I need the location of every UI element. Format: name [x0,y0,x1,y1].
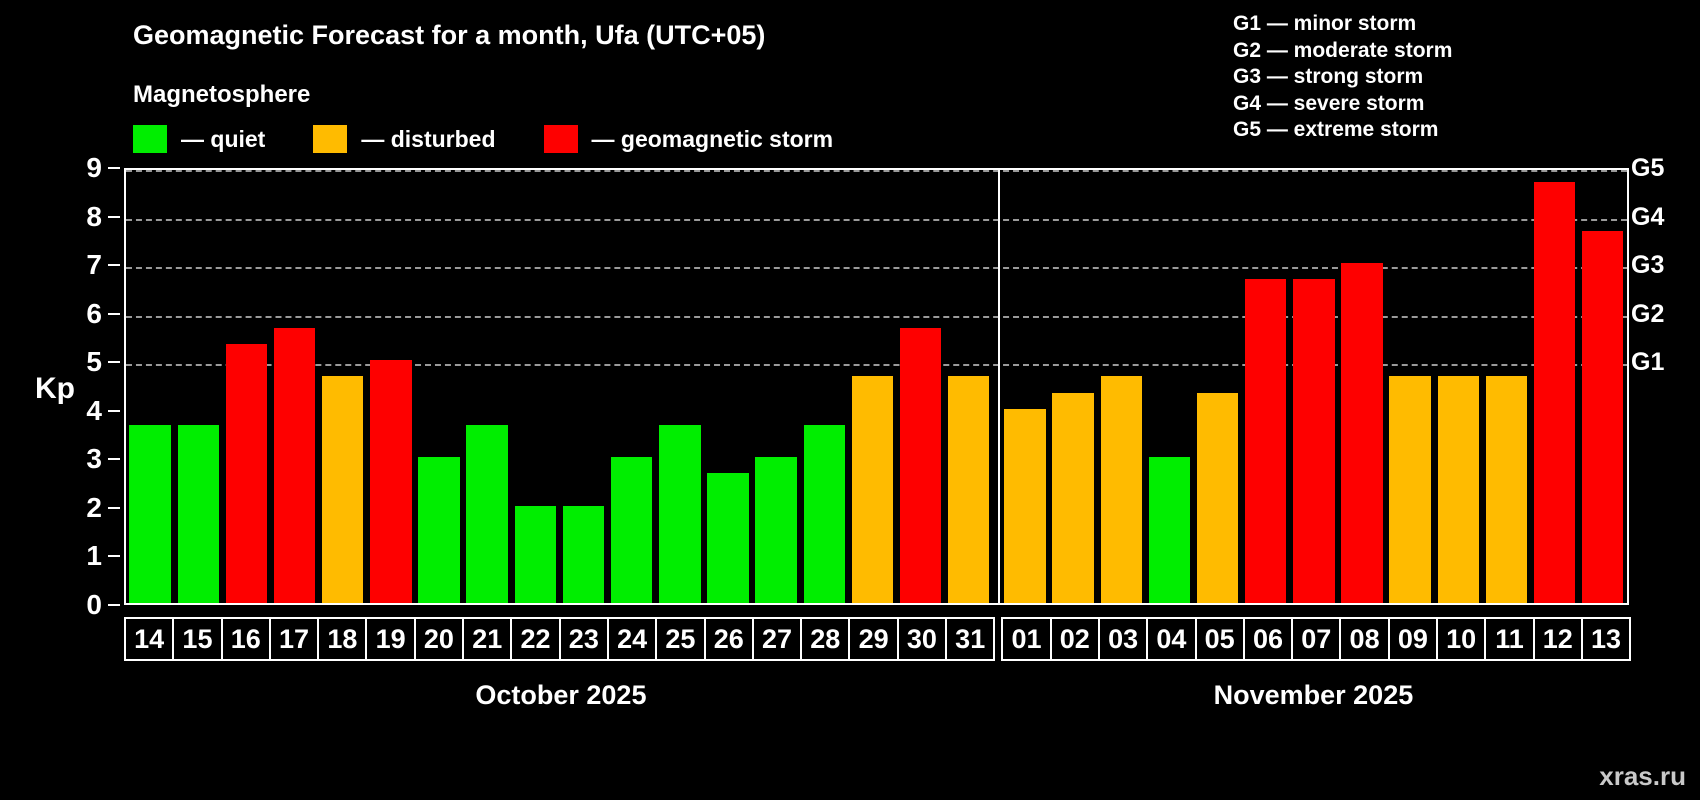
y-tick-mark-2 [108,507,120,509]
bar-16[interactable] [226,344,267,603]
date-cell-11[interactable]: 11 [1484,617,1534,661]
y-tick-mark-6 [108,313,120,315]
y-tick-label-2: 2 [86,494,102,522]
g-scale-line-3: G3 — strong storm [1233,64,1452,91]
date-cell-17[interactable]: 17 [269,617,319,661]
date-cell-16[interactable]: 16 [221,617,271,661]
bar-slot-10[interactable] [1434,170,1482,603]
bar-slot-03[interactable] [1097,170,1145,603]
y-tick-8: 8 [0,201,124,233]
bar-21[interactable] [466,425,507,603]
date-cell-14[interactable]: 14 [124,617,174,661]
bar-slot-02[interactable] [1049,170,1097,603]
legend-label-disturbed: — disturbed [361,126,495,153]
bar-12[interactable] [1534,182,1575,603]
month-label-0: October 2025 [124,680,998,711]
g-scale-line-2: G2 — moderate storm [1233,38,1452,65]
bar-slot-21[interactable] [463,170,511,603]
bar-28[interactable] [804,425,845,603]
bar-05[interactable] [1197,393,1238,603]
bar-slot-11[interactable] [1482,170,1530,603]
y-tick-mark-0 [108,604,120,606]
bar-slot-22[interactable] [511,170,559,603]
y-tick-1: 1 [0,540,124,572]
date-cell-04[interactable]: 04 [1146,617,1196,661]
plot-area [124,168,1629,605]
bar-slot-20[interactable] [415,170,463,603]
bar-01[interactable] [1004,409,1045,603]
y-tick-mark-3 [108,458,120,460]
bar-03[interactable] [1101,376,1142,603]
date-cell-12[interactable]: 12 [1533,617,1583,661]
date-cell-23[interactable]: 23 [559,617,609,661]
bar-26[interactable] [707,473,748,603]
date-cell-20[interactable]: 20 [414,617,464,661]
date-cell-26[interactable]: 26 [704,617,754,661]
legend-item-quiet: — quiet [133,125,265,153]
bar-slot-29[interactable] [848,170,896,603]
g-tick-G3: G3 [1631,253,1664,278]
date-cell-22[interactable]: 22 [510,617,560,661]
date-cell-29[interactable]: 29 [848,617,898,661]
watermark: xras.ru [1599,761,1686,792]
bar-06[interactable] [1245,279,1286,603]
y-tick-label-4: 4 [86,397,102,425]
y-tick-label-7: 7 [86,251,102,279]
bar-slot-17[interactable] [270,170,318,603]
bar-slot-04[interactable] [1145,170,1193,603]
bar-20[interactable] [418,457,459,603]
legend-heading: Magnetosphere [133,81,310,109]
y-axis-g-scale: G5G4G3G2G1 [1631,168,1700,605]
legend-swatch-quiet-icon [133,125,167,153]
bar-slot-14[interactable] [126,170,174,603]
bar-slot-05[interactable] [1193,170,1241,603]
bar-30[interactable] [900,328,941,603]
g-scale-legend: G1 — minor stormG2 — moderate stormG3 — … [1233,11,1452,144]
bar-15[interactable] [178,425,219,603]
page-title: Geomagnetic Forecast for a month, Ufa (U… [133,20,765,51]
y-tick-label-3: 3 [86,445,102,473]
bar-slot-08[interactable] [1338,170,1386,603]
date-cell-10[interactable]: 10 [1436,617,1486,661]
y-tick-mark-5 [108,361,120,363]
bar-slot-25[interactable] [656,170,704,603]
date-cell-06[interactable]: 06 [1243,617,1293,661]
date-axis: 1415161718192021222324252627282930310102… [124,617,1629,661]
date-cell-30[interactable]: 30 [897,617,947,661]
geomagnetic-forecast-chart: Geomagnetic Forecast for a month, Ufa (U… [0,0,1700,800]
bar-slot-31[interactable] [945,170,993,603]
y-tick-label-6: 6 [86,300,102,328]
y-axis-title: Kp [35,372,75,406]
date-cell-27[interactable]: 27 [752,617,802,661]
date-cell-24[interactable]: 24 [607,617,657,661]
bar-04[interactable] [1149,457,1190,603]
bar-slot-30[interactable] [897,170,945,603]
y-tick-6: 6 [0,298,124,330]
g-scale-line-4: G4 — severe storm [1233,91,1452,118]
legend: — quiet— disturbed— geomagnetic storm [133,125,833,153]
bar-25[interactable] [659,425,700,603]
bar-slot-13[interactable] [1579,170,1627,603]
y-tick-mark-9 [108,167,120,169]
y-tick-mark-4 [108,410,120,412]
y-tick-9: 9 [0,152,124,184]
legend-item-disturbed: — disturbed [313,125,495,153]
date-cell-15[interactable]: 15 [172,617,222,661]
bar-slot-19[interactable] [367,170,415,603]
g-tick-G5: G5 [1631,156,1664,181]
bar-31[interactable] [948,376,989,603]
bar-slot-27[interactable] [752,170,800,603]
date-cell-02[interactable]: 02 [1050,617,1100,661]
legend-swatch-storm-icon [544,125,578,153]
bar-13[interactable] [1582,231,1623,603]
date-cell-18[interactable]: 18 [317,617,367,661]
y-tick-mark-8 [108,216,120,218]
legend-label-quiet: — quiet [181,126,265,153]
bar-slot-06[interactable] [1242,170,1290,603]
y-tick-0: 0 [0,589,124,621]
y-tick-7: 7 [0,249,124,281]
g-tick-G2: G2 [1631,302,1664,327]
bar-slot-01[interactable] [1001,170,1049,603]
y-tick-label-8: 8 [86,203,102,231]
y-tick-label-0: 0 [86,591,102,619]
bar-24[interactable] [611,457,652,603]
bar-slot-18[interactable] [319,170,367,603]
y-tick-label-1: 1 [86,542,102,570]
g-tick-G4: G4 [1631,205,1664,230]
bar-10[interactable] [1438,376,1479,603]
bar-slot-28[interactable] [800,170,848,603]
bar-18[interactable] [322,376,363,603]
date-cell-21[interactable]: 21 [462,617,512,661]
g-tick-G1: G1 [1631,350,1664,375]
date-cell-05[interactable]: 05 [1195,617,1245,661]
y-tick-label-5: 5 [86,348,102,376]
bar-slot-12[interactable] [1531,170,1579,603]
bar-11[interactable] [1486,376,1527,603]
bar-09[interactable] [1389,376,1430,603]
y-tick-mark-1 [108,555,120,557]
bar-slot-23[interactable] [559,170,607,603]
bar-slot-15[interactable] [174,170,222,603]
bar-27[interactable] [755,457,796,603]
legend-item-storm: — geomagnetic storm [544,125,834,153]
g-scale-line-5: G5 — extreme storm [1233,117,1452,144]
bar-29[interactable] [852,376,893,603]
date-cell-31[interactable]: 31 [945,617,995,661]
y-tick-3: 3 [0,443,124,475]
bar-slot-09[interactable] [1386,170,1434,603]
bar-14[interactable] [129,425,170,603]
bar-02[interactable] [1052,393,1093,603]
bar-17[interactable] [274,328,315,603]
date-cell-01[interactable]: 01 [1001,617,1051,661]
bar-07[interactable] [1293,279,1334,603]
bar-slot-16[interactable] [222,170,270,603]
bar-22[interactable] [515,506,556,603]
bar-slot-07[interactable] [1290,170,1338,603]
bar-08[interactable] [1341,263,1382,603]
date-cell-28[interactable]: 28 [800,617,850,661]
legend-swatch-disturbed-icon [313,125,347,153]
bar-23[interactable] [563,506,604,603]
date-cell-09[interactable]: 09 [1388,617,1438,661]
bar-slot-26[interactable] [704,170,752,603]
bar-19[interactable] [370,360,411,603]
legend-label-storm: — geomagnetic storm [592,126,834,153]
date-cell-25[interactable]: 25 [655,617,705,661]
month-label-1: November 2025 [998,680,1629,711]
y-tick-label-9: 9 [86,154,102,182]
month-divider [998,170,1000,603]
g-scale-line-1: G1 — minor storm [1233,11,1452,38]
y-tick-mark-7 [108,264,120,266]
date-cell-13[interactable]: 13 [1581,617,1631,661]
date-cell-08[interactable]: 08 [1339,617,1389,661]
date-cell-07[interactable]: 07 [1291,617,1341,661]
y-tick-2: 2 [0,492,124,524]
bar-slot-24[interactable] [608,170,656,603]
date-cell-03[interactable]: 03 [1098,617,1148,661]
date-cell-19[interactable]: 19 [365,617,415,661]
bar-series [126,170,1627,603]
